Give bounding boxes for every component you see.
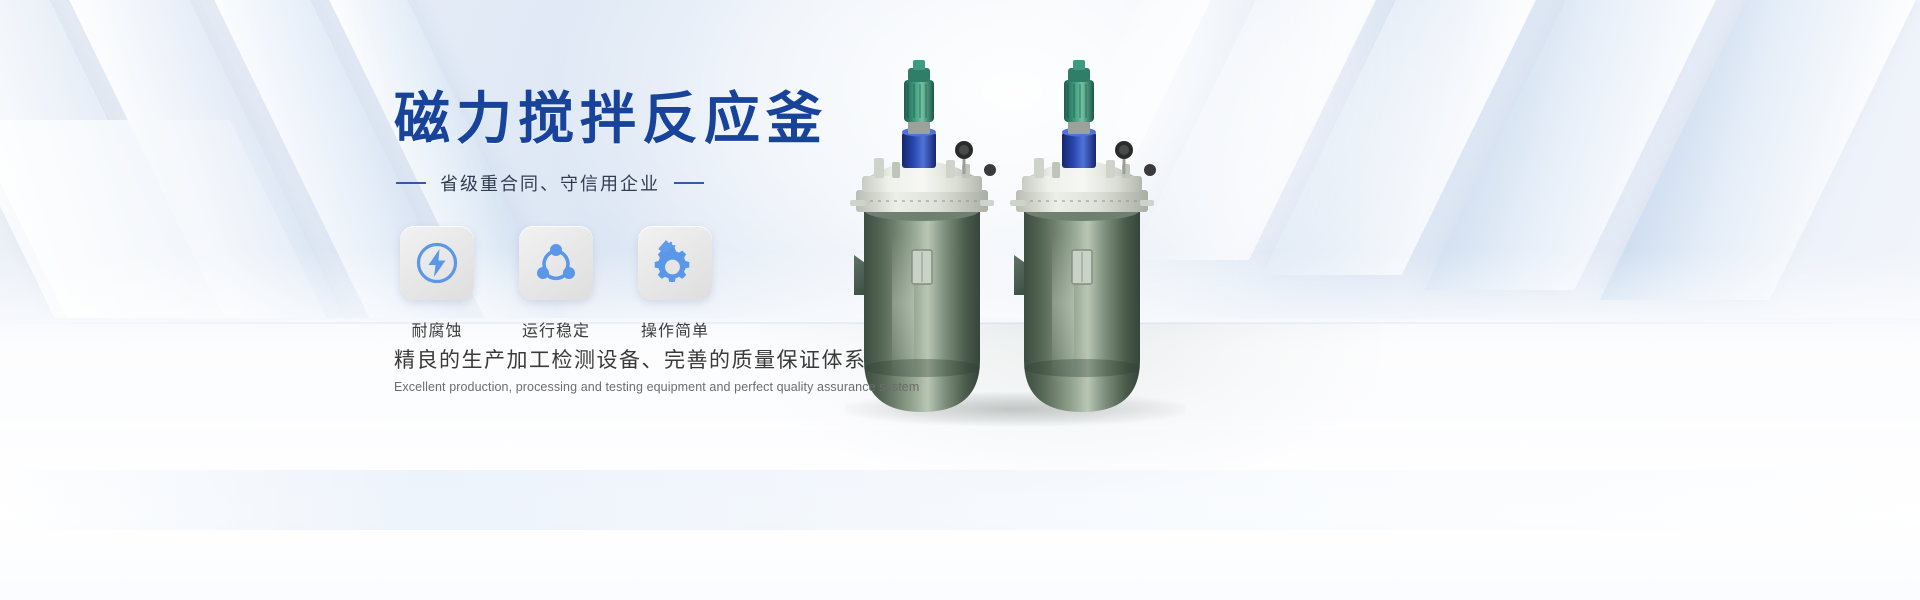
feature-label: 耐腐蚀	[411, 317, 462, 341]
subtitle-dash-right	[674, 182, 704, 184]
feature-label: 运行稳定	[522, 317, 590, 341]
share-nodes-glyph	[532, 239, 580, 287]
gears-icon	[638, 226, 712, 300]
feature-item-stable-operation[interactable]: 运行稳定	[519, 226, 593, 341]
feature-label: 操作简单	[641, 317, 709, 341]
feature-list: 耐腐蚀 运行稳定	[400, 226, 712, 341]
gears-glyph	[650, 238, 700, 288]
product-banner: 磁力搅拌反应釜 省级重合同、守信用企业 耐腐蚀	[0, 0, 1920, 600]
lightning-bolt-circle-glyph	[413, 239, 461, 287]
subtitle-dash-left	[396, 182, 426, 184]
tagline-chinese: 精良的生产加工检测设备、完善的质量保证体系	[394, 344, 867, 374]
banner-subtitle: 省级重合同、守信用企业	[396, 170, 704, 196]
share-nodes-icon	[519, 226, 593, 300]
page-title: 磁力搅拌反应釜	[394, 92, 828, 148]
subtitle-text: 省级重合同、守信用企业	[440, 170, 660, 196]
banner-content: 磁力搅拌反应釜 省级重合同、守信用企业 耐腐蚀	[0, 0, 1920, 600]
tagline-english: Excellent production, processing and tes…	[394, 380, 919, 394]
feature-item-simple-operation[interactable]: 操作简单	[638, 226, 712, 341]
feature-item-corrosion-resistant[interactable]: 耐腐蚀	[400, 226, 474, 341]
lightning-bolt-circle-icon	[400, 226, 474, 300]
gear-large	[655, 247, 690, 282]
